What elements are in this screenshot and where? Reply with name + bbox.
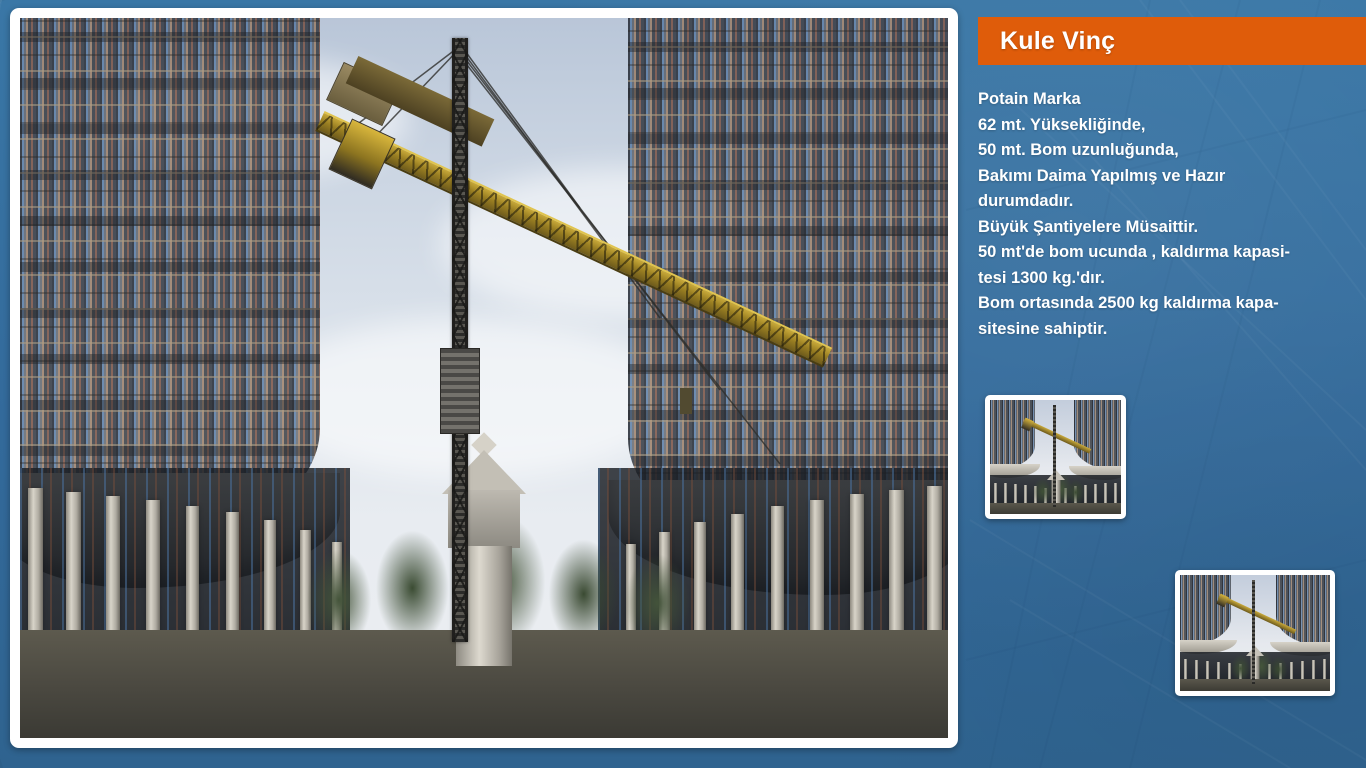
spec-list: Potain Marka 62 mt. Yüksekliğinde, 50 mt… (978, 87, 1348, 342)
main-photo (20, 18, 948, 738)
title-bar: Kule Vinç (978, 17, 1366, 65)
crane-mast-collar (440, 348, 480, 434)
main-photo-frame[interactable] (10, 8, 958, 748)
spec-line: sitesine sahiptir. (978, 317, 1348, 343)
spec-line: 62 mt. Yüksekliğinde, (978, 113, 1348, 139)
thumbnail-2[interactable] (1175, 570, 1335, 696)
spec-line: Büyük Şantiyelere Müsaittir. (978, 215, 1348, 241)
thumbnail-1[interactable] (985, 395, 1126, 519)
crane-trolley (680, 388, 692, 414)
spec-line: Bakımı Daima Yapılmış ve Hazır (978, 164, 1348, 190)
spec-line: durumdadır. (978, 189, 1348, 215)
thumbnail-1-image (990, 400, 1121, 514)
thumbnail-2-image (1180, 575, 1330, 691)
spec-line: tesi 1300 kg.'dır. (978, 266, 1348, 292)
spec-line: Bom ortasında 2500 kg kaldırma kapa- (978, 291, 1348, 317)
spec-line: 50 mt'de bom ucunda , kaldırma kapasi- (978, 240, 1348, 266)
spec-line: Potain Marka (978, 87, 1348, 113)
spec-line: 50 mt. Bom uzunluğunda, (978, 138, 1348, 164)
page-title: Kule Vinç (978, 27, 1115, 56)
crane-mast-lattice (452, 38, 468, 642)
